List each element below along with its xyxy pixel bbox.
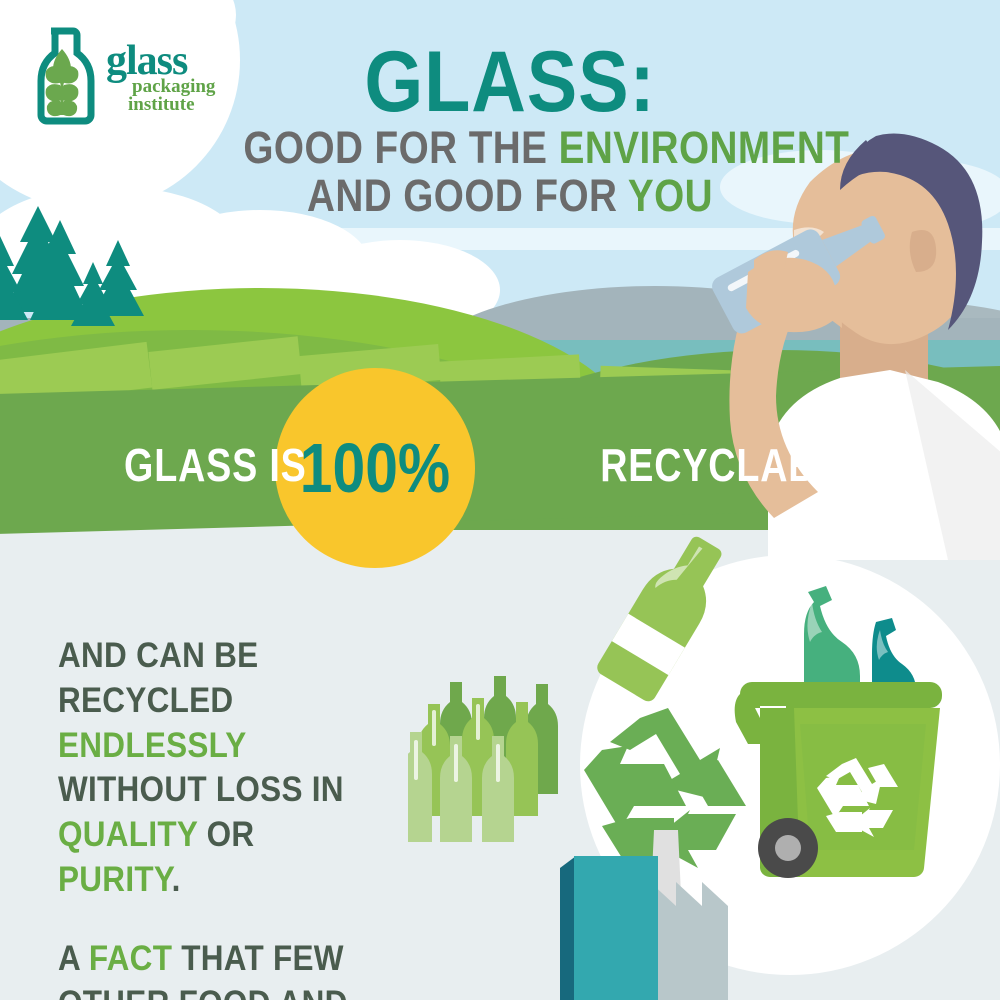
- recyclable-banner-text: GLASS IS RECYCLABLE: [0, 425, 1000, 505]
- p1-highlight-endlessly: ENDLESSLY: [58, 726, 246, 765]
- banner-right-text: RECYCLABLE: [600, 438, 866, 492]
- p2-highlight-fact: FACT: [89, 939, 172, 978]
- p1-text-d: .: [172, 860, 181, 899]
- banner-left-text: GLASS IS: [125, 438, 308, 492]
- factory-icon: [540, 830, 840, 1000]
- brand-name-institute: institute: [128, 96, 215, 114]
- percent-value: 100%: [291, 368, 459, 568]
- p2-text-a: A: [58, 939, 89, 978]
- headline-line2-plain: GOOD FOR THE: [243, 122, 558, 173]
- bottle-leaf-icon: [24, 27, 100, 127]
- infographic-canvas: GLASS IS RECYCLABLE 100% glass packaging…: [0, 0, 1000, 1000]
- brand-logo[interactable]: glass packaging institute: [24, 22, 224, 132]
- headline-block: GLASS: GOOD FOR THE ENVIRONMENT AND GOOD…: [200, 42, 820, 221]
- brand-name-glass: glass: [106, 44, 215, 78]
- headline-line-3: AND GOOD FOR YOU: [243, 172, 776, 221]
- headline-line-2: GOOD FOR THE ENVIRONMENT: [243, 124, 776, 173]
- recycling-illustration: [400, 530, 1000, 1000]
- headline-line3-plain: AND GOOD FOR: [307, 170, 628, 221]
- body-copy-block: AND CAN BE RECYCLED ENDLESSLY WITHOUT LO…: [58, 634, 418, 1000]
- headline-line3-highlight: YOU: [628, 170, 713, 221]
- paragraph-one: AND CAN BE RECYCLED ENDLESSLY WITHOUT LO…: [58, 634, 382, 903]
- brand-wordmark: glass packaging institute: [106, 44, 215, 115]
- p1-highlight-purity: PURITY: [58, 860, 172, 899]
- p1-text-a: AND CAN BE RECYCLED: [58, 636, 258, 720]
- p1-text-b: WITHOUT LOSS IN: [58, 770, 344, 809]
- p1-text-c: OR: [198, 815, 255, 854]
- headline-line2-highlight: ENVIRONMENT: [559, 122, 850, 173]
- paragraph-two: A FACT THAT FEW OTHER FOOD AND BEVERAGE …: [58, 937, 382, 1000]
- p1-highlight-quality: QUALITY: [58, 815, 198, 854]
- page-title: GLASS:: [237, 42, 783, 124]
